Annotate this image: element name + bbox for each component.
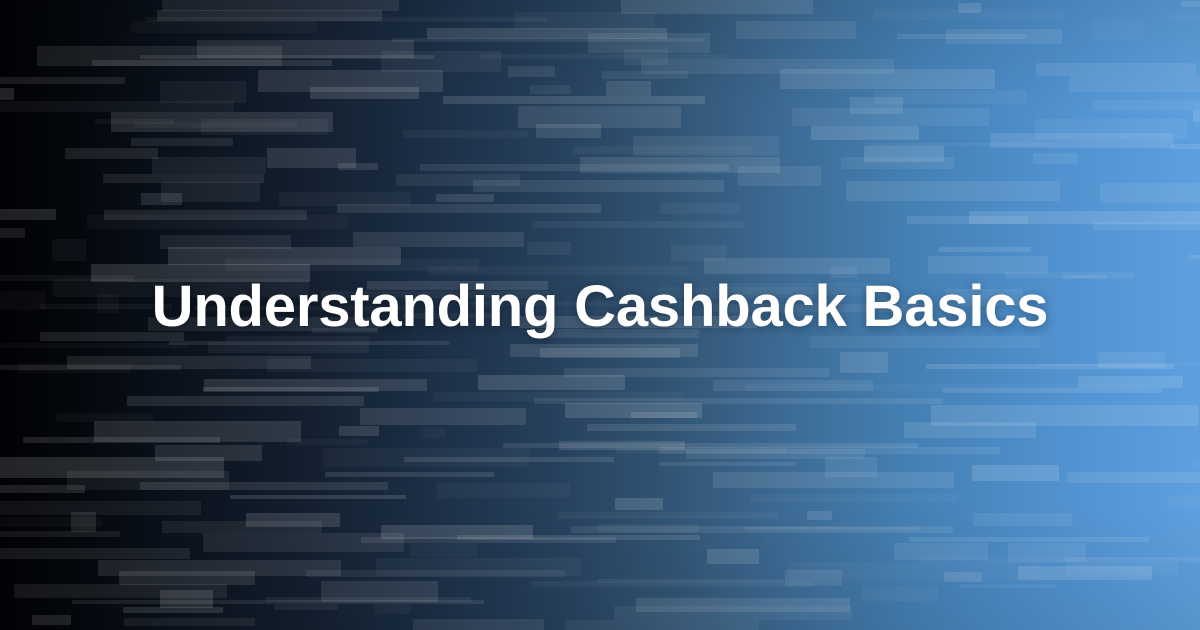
page-title: Understanding Cashback Basics	[152, 274, 1049, 341]
og-card: Understanding Cashback Basics	[0, 0, 1200, 630]
title-container: Understanding Cashback Basics	[0, 0, 1200, 630]
